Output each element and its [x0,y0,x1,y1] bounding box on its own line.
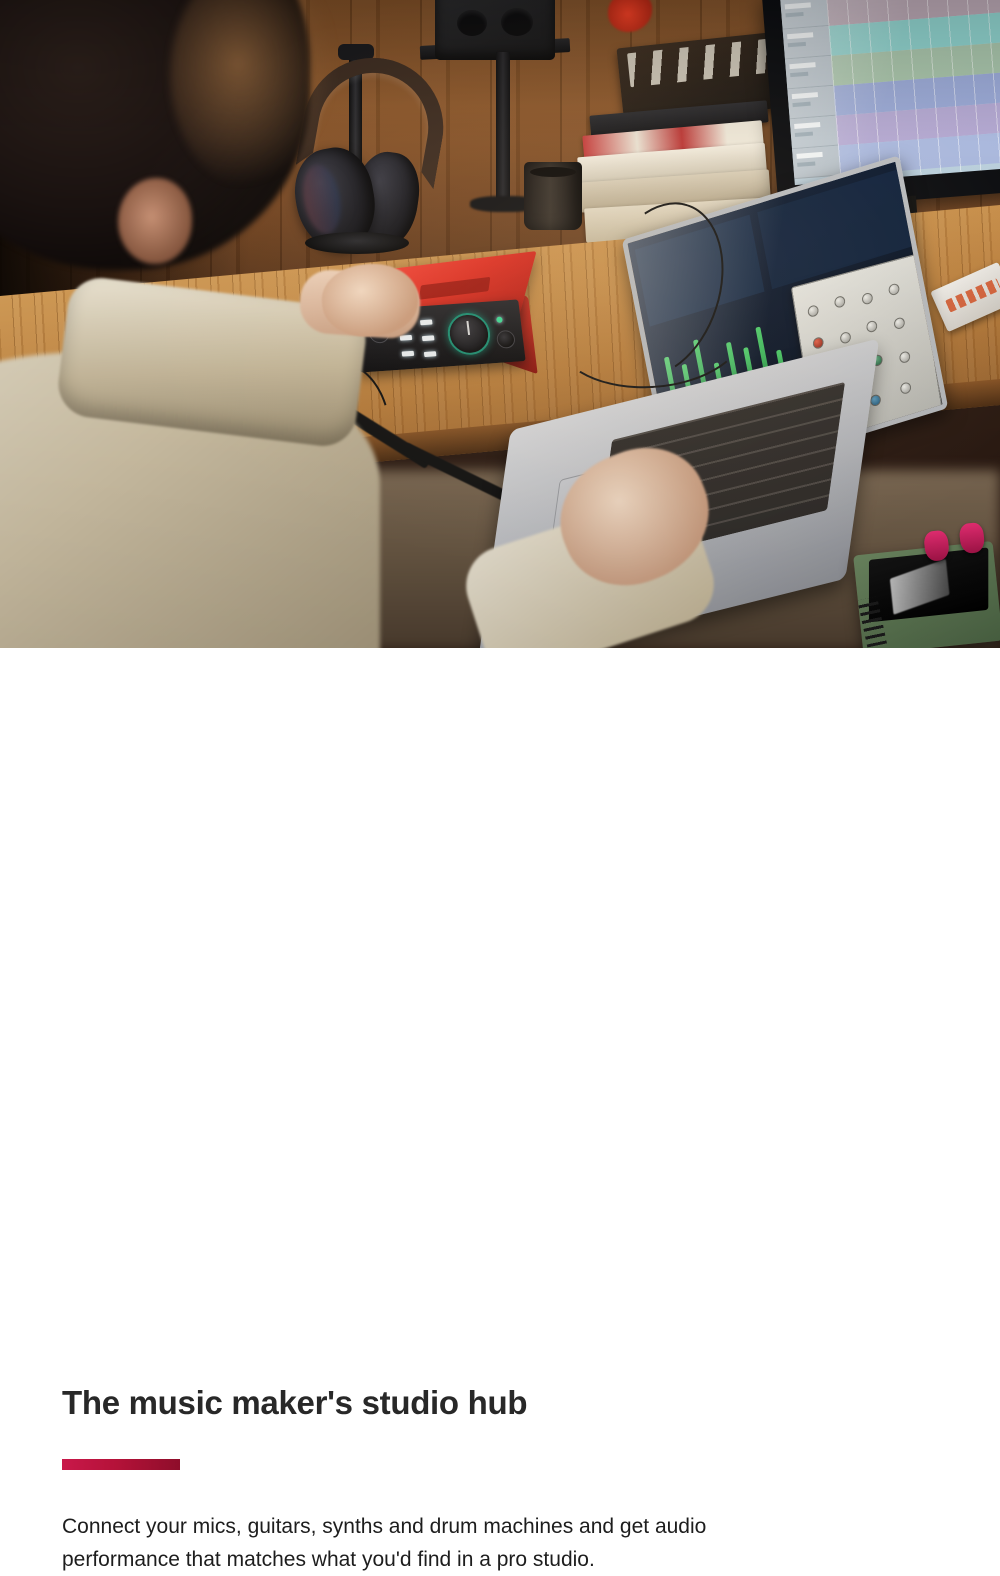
power-led [496,317,503,323]
pad-button-led [422,335,435,341]
body-line-1: Connect your mics, guitars, synths and d… [62,1510,852,1543]
monitor-level-knob [445,312,492,357]
inst-button-led [420,319,433,325]
focusrite-logo [419,277,490,300]
speaker-port-left [457,10,487,36]
fuzz-pedal [853,541,1000,648]
product-feature-panel: The music maker's studio hub Connect you… [0,0,1000,1000]
speaker-port-right [501,8,533,36]
studio-monitor-speaker [435,0,555,60]
page-title: The music maker's studio hub [62,1383,922,1423]
fuzz-pedal-label [890,559,950,615]
person-ear [118,178,192,264]
body-line-2: performance that matches what you'd find… [62,1543,852,1576]
text-section: The music maker's studio hub Connect you… [0,648,1000,1000]
speaker-stand-pole [496,52,510,202]
pad-button-led [400,335,413,341]
headphone-stand-base [305,232,409,254]
headphone-jack [496,330,516,349]
body-paragraph: Connect your mics, guitars, synths and d… [62,1510,852,1576]
coffee-mug [524,162,582,230]
air-button-led [402,351,415,357]
accent-divider [62,1459,180,1470]
air-button-led [424,351,437,357]
hero-photo [0,0,1000,648]
fuzz-pedal-faceplate [869,547,988,622]
